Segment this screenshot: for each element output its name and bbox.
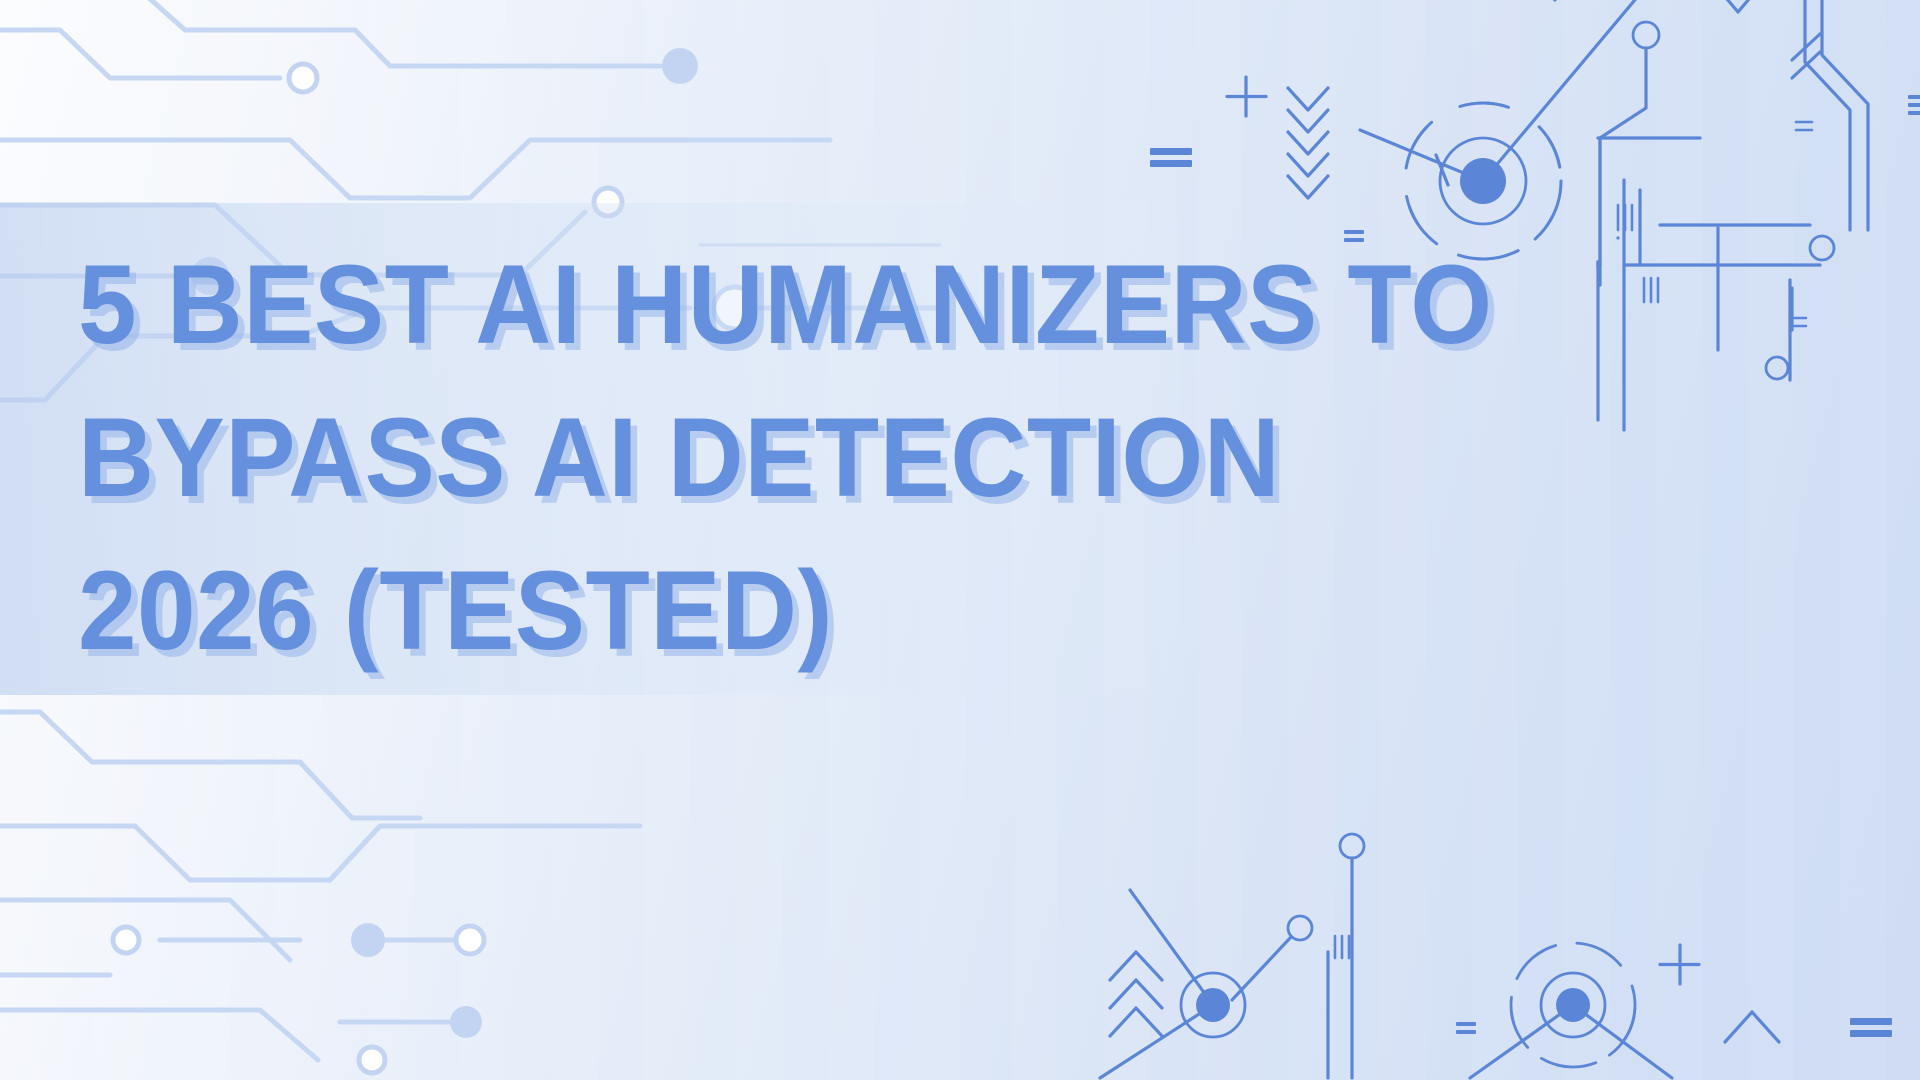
plus-icon-bottom	[1660, 945, 1699, 984]
triple-tick-icon	[1618, 205, 1632, 230]
title-line-1: 5 BEST AI HUMANIZERS TO	[78, 228, 1272, 381]
title-line-2: BYPASS AI DETECTION	[78, 381, 1272, 534]
circuit-schematic-bottom-mid	[1232, 834, 1364, 1078]
plus-icon	[1227, 77, 1266, 116]
circuit-node-hollow-icon	[113, 927, 139, 953]
circuit-node-hollow-icon	[359, 1047, 385, 1073]
title-line-3: 2026 (TESTED)	[78, 534, 1272, 687]
circuit-node-hollow-icon	[456, 926, 484, 954]
circuit-node-filled-icon	[351, 923, 385, 957]
hamburger-bars-icon-bottom-small	[1456, 1022, 1476, 1034]
hamburger-bars-icon-bottom	[1850, 1018, 1892, 1037]
chevron-up-icon-bottom	[1725, 1012, 1779, 1042]
circuit-node-hollow-icon	[289, 64, 317, 92]
chevron-double-up-icon	[1110, 952, 1162, 1036]
chevron-double-down-icon	[1288, 88, 1328, 198]
circuit-node-hollow-icon	[1633, 22, 1659, 48]
circuit-node-filled-icon	[450, 1006, 482, 1038]
radar-target-icon-bottom-b	[1488, 920, 1657, 1080]
circuit-traces-bottom-left	[0, 712, 640, 1073]
radar-connector-line	[1483, 0, 1660, 181]
radar-connector-line	[1100, 1005, 1213, 1078]
circuit-node-hollow-icon	[1766, 357, 1788, 379]
circuit-node-hollow-icon	[1810, 236, 1834, 260]
circuit-node-hollow-icon	[1340, 834, 1364, 858]
radar-connector-line	[1573, 1005, 1672, 1078]
radar-connector-line	[1470, 1005, 1573, 1078]
banner-canvas: .trace { fill:none; stroke:#c6d7f3; stro…	[0, 0, 1920, 1080]
chevron-up-icon-top	[1716, 0, 1760, 12]
hamburger-bars-icon	[1150, 148, 1192, 167]
radar-connector-line	[1360, 130, 1483, 181]
triple-tick-icon	[1644, 278, 1658, 302]
page-title: 5 BEST AI HUMANIZERS TO BYPASS AI DETECT…	[78, 228, 1348, 687]
triple-tick-icon	[1335, 936, 1349, 958]
circuit-node-filled-icon	[662, 48, 698, 84]
tech-motifs-bottom-right	[1100, 834, 1892, 1080]
hamburger-bars-icon-edge	[1908, 95, 1920, 115]
circuit-schematic-far-right	[1766, 0, 1868, 380]
